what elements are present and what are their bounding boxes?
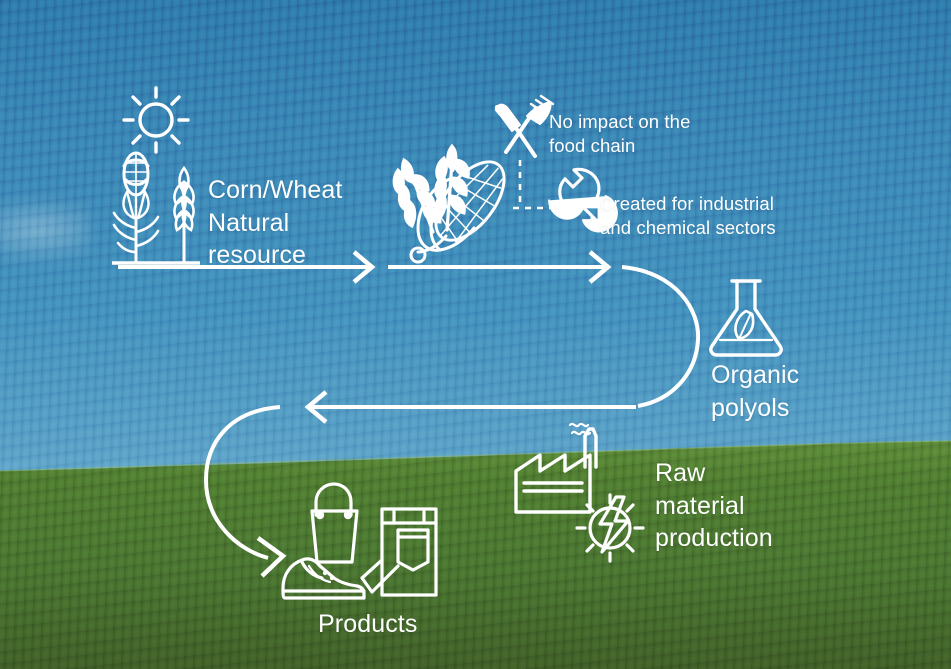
factory-icon [516,424,596,512]
label-raw-material-production: Raw material production [655,457,773,555]
arrow-3-polyols-curve [622,267,698,406]
wheat-plant-icon [174,168,193,262]
arrow-4-return-line [308,392,636,422]
jeans-icon [362,509,436,595]
label-products: Products [318,608,417,641]
arrow-5-curve-to-products [206,407,283,576]
arrow-2-processing-to-polyols [388,252,608,282]
diagram-overlay [0,0,951,669]
fork-knife-icon [496,96,553,156]
label-created-for-industrial: Created for industrial and chemical sect… [600,192,776,240]
corn-plant-icon [114,153,158,262]
label-organic-polyols: Organic polyols [711,359,799,424]
label-corn-wheat-natural-resource: Corn/Wheat Natural resource [208,174,342,272]
label-no-impact-food-chain: No impact on the food chain [549,110,690,158]
flask-leaf-icon [711,281,781,355]
sneaker-icon [283,559,364,598]
sun-icon [124,88,188,152]
handbag-icon [312,484,357,562]
infographic-canvas: Corn/Wheat Natural resource No impact on… [0,0,951,669]
smoke-icon [570,424,590,434]
